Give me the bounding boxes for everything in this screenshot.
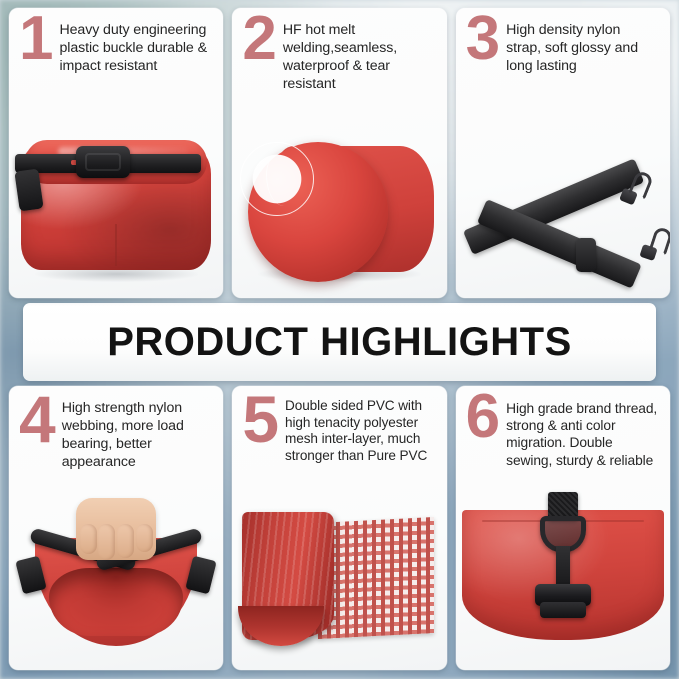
- swivel-hook-icon-lower: [648, 226, 670, 256]
- feature-6-header: 6 High grade brand thread, strong & anti…: [466, 396, 658, 469]
- feature-4-image: [9, 470, 223, 670]
- finger: [98, 524, 115, 560]
- feature-2-image: [232, 120, 446, 298]
- feature-1-image: [9, 120, 223, 298]
- feature-1-text: Heavy duty engineering plastic buckle du…: [59, 18, 211, 76]
- feature-5-text: Double sided PVC with high tenacity poly…: [285, 396, 435, 464]
- feature-1-header: 1 Heavy duty engineering plastic buckle …: [19, 18, 211, 76]
- feature-3-number: 3: [466, 14, 500, 65]
- feature-5-header: 5 Double sided PVC with high tenacity po…: [242, 396, 434, 464]
- feature-2-number: 2: [242, 14, 276, 65]
- feature-card-1: 1 Heavy duty engineering plastic buckle …: [9, 8, 223, 298]
- feature-1-number: 1: [19, 14, 53, 65]
- finger: [117, 524, 134, 558]
- bag-interior: [49, 568, 183, 636]
- feature-card-3: 3 High density nylon strap, soft glossy …: [456, 8, 670, 298]
- feature-6-number: 6: [466, 392, 500, 443]
- infographic-grid: 1 Heavy duty engineering plastic buckle …: [0, 0, 679, 679]
- strap-length-adjuster: [576, 238, 596, 272]
- feature-card-6: 6 High grade brand thread, strong & anti…: [456, 386, 670, 670]
- feature-6-image: [456, 470, 670, 670]
- feature-4-header: 4 High strength nylon webbing, more load…: [19, 396, 211, 472]
- feature-5-number: 5: [242, 392, 279, 446]
- feature-card-2: 2 HF hot melt welding,seamless, waterpro…: [232, 8, 446, 298]
- finger: [136, 524, 153, 552]
- feature-card-5: 5 Double sided PVC with high tenacity po…: [232, 386, 446, 670]
- pvc-fabric-curl: [238, 606, 324, 646]
- plastic-buckle-icon: [76, 146, 130, 178]
- feature-5-image: [232, 470, 446, 670]
- feature-card-4: 4 High strength nylon webbing, more load…: [9, 386, 223, 670]
- banner-title: PRODUCT HIGHLIGHTS: [107, 320, 572, 365]
- finger: [80, 524, 97, 554]
- feature-2-header: 2 HF hot melt welding,seamless, waterpro…: [242, 18, 434, 94]
- shoulder-strap-group: [456, 120, 670, 298]
- product-highlights-banner: PRODUCT HIGHLIGHTS: [23, 303, 656, 381]
- feature-4-number: 4: [19, 392, 56, 446]
- feature-6-text: High grade brand thread, strong & anti c…: [506, 396, 658, 469]
- feature-3-text: High density nylon strap, soft glossy an…: [506, 18, 658, 76]
- hand-icon: [76, 498, 156, 560]
- feature-4-text: High strength nylon webbing, more load b…: [62, 396, 212, 472]
- buckle-lower: [540, 602, 586, 618]
- dry-bag-seam: [115, 224, 117, 266]
- feature-3-image: [456, 120, 670, 298]
- feature-2-text: HF hot melt welding,seamless, waterproof…: [283, 18, 435, 94]
- polyester-mesh-swatch: [318, 517, 434, 639]
- feature-3-header: 3 High density nylon strap, soft glossy …: [466, 18, 658, 76]
